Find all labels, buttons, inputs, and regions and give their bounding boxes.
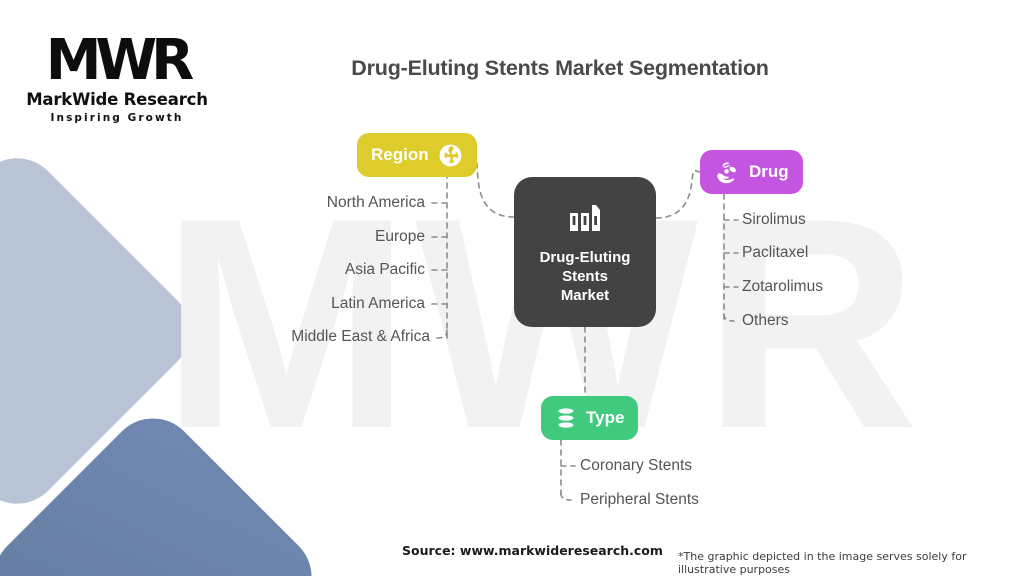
hub-label-line3: Market	[540, 286, 631, 305]
leaf-region-4: Middle East & Africa	[160, 328, 430, 346]
infographic-canvas: MWR MWR MarkWide Research Inspiring Grow…	[0, 0, 1024, 576]
leaf-region-3: Latin America	[160, 295, 425, 313]
connector-type-item-1	[561, 493, 571, 500]
factory-icon	[568, 203, 602, 238]
hub-label-line2: Stents	[540, 267, 631, 286]
hub-label-line1: Drug-Eluting	[540, 248, 631, 267]
globe-icon	[438, 143, 463, 168]
leaf-drug-0: Sirolimus	[742, 211, 806, 229]
leaf-drug-1: Paclitaxel	[742, 244, 808, 262]
leaf-type-0: Coronary Stents	[580, 457, 692, 475]
leaf-type-1: Peripheral Stents	[580, 491, 699, 509]
branch-label-drug: Drug	[749, 162, 789, 182]
connector-drug-item-3	[724, 314, 734, 321]
connector-hub-region	[472, 155, 514, 217]
branch-label-region: Region	[371, 145, 429, 165]
branch-label-type: Type	[586, 408, 624, 428]
layers-icon	[555, 406, 577, 430]
branch-pill-type[interactable]: Type	[541, 396, 638, 440]
connector-lines	[0, 0, 1024, 576]
hand-pills-icon	[714, 159, 740, 185]
branch-pill-region[interactable]: Region	[357, 133, 477, 177]
leaf-region-0: North America	[160, 194, 425, 212]
leaf-drug-3: Others	[742, 312, 789, 330]
disclaimer-text: *The graphic depicted in the image serve…	[678, 550, 1024, 576]
hub-node[interactable]: Drug-Eluting Stents Market	[514, 177, 656, 327]
leaf-region-2: Asia Pacific	[160, 261, 425, 279]
branch-pill-drug[interactable]: Drug	[700, 150, 803, 194]
leaf-region-1: Europe	[160, 228, 425, 246]
hub-label: Drug-Eluting Stents Market	[540, 248, 631, 305]
source-text: Source: www.markwideresearch.com	[402, 543, 663, 558]
connector-region-item-4	[437, 330, 447, 338]
leaf-drug-2: Zotarolimus	[742, 278, 823, 296]
connector-hub-drug	[656, 170, 700, 218]
